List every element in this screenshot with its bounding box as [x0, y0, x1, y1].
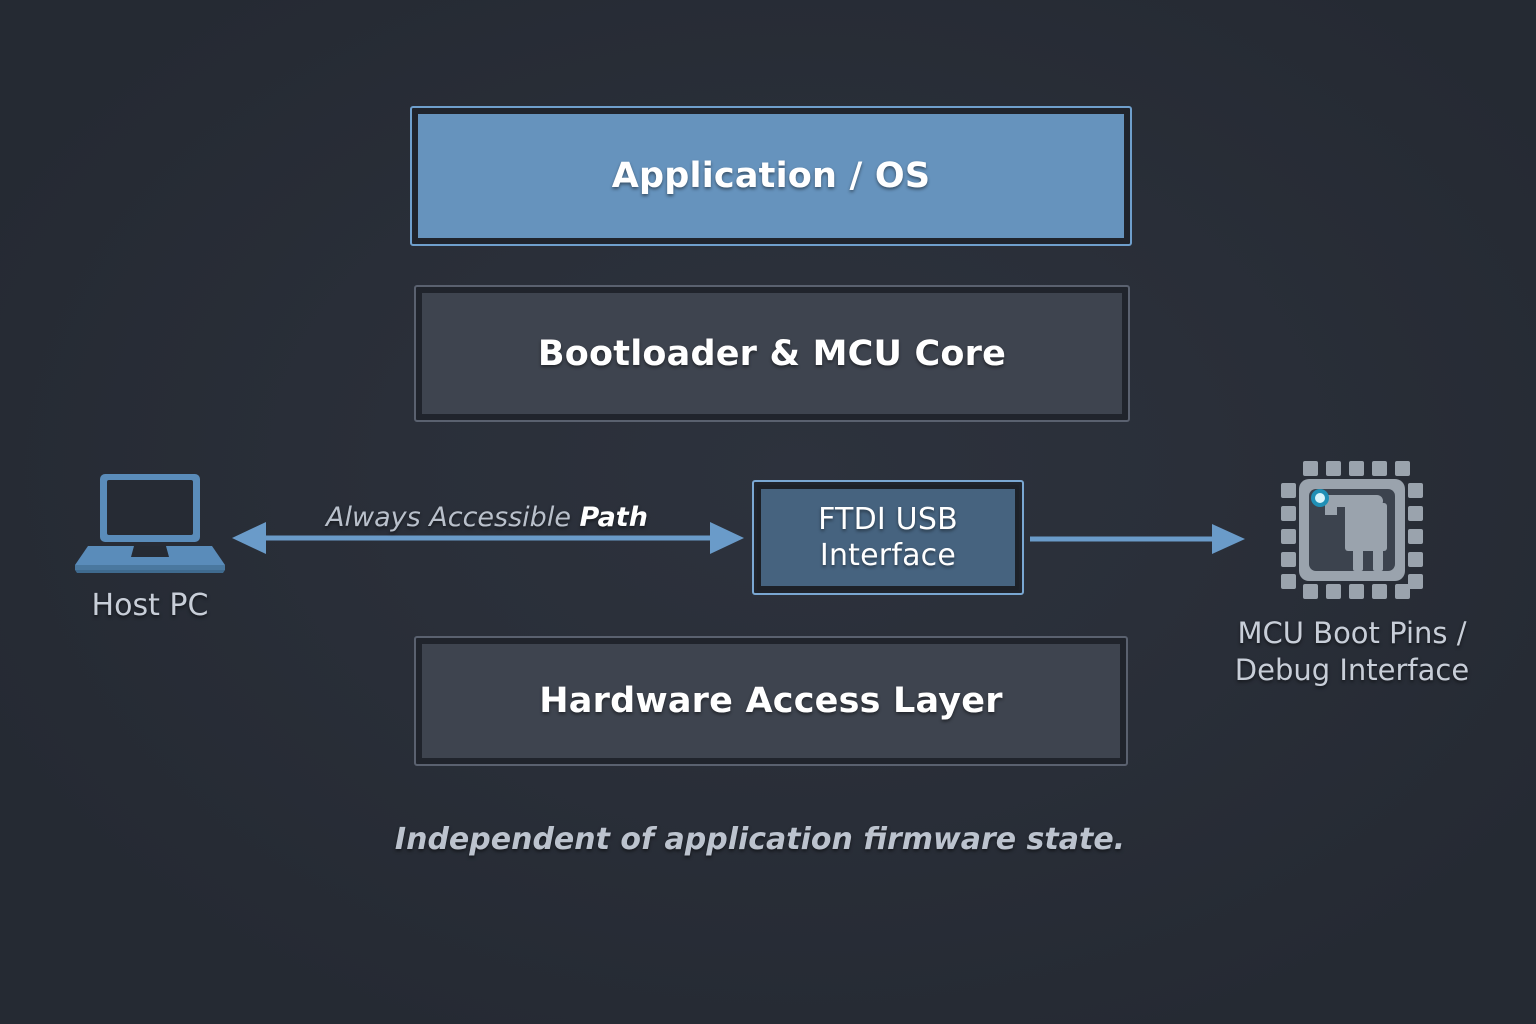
layer-label-bootloader-mcu-core: Bootloader & MCU Core	[538, 334, 1006, 374]
mcu-label: MCU Boot Pins /Debug Interface	[1235, 615, 1469, 689]
caption-strong-text: Path	[580, 502, 648, 533]
footer-note: Independent of application firmware stat…	[0, 822, 1536, 857]
connector-caption-always-accessible-path: Always Accessible Path	[232, 502, 742, 533]
layer-box-application-os[interactable]: Application / OS	[410, 106, 1132, 246]
microchip-icon	[1277, 455, 1427, 605]
layer-box-application-os-inner: Application / OS	[415, 111, 1127, 241]
layer-label-hardware-access-layer: Hardware Access Layer	[539, 681, 1002, 721]
host-pc-label: Host PC	[92, 587, 209, 625]
laptop-icon	[70, 470, 230, 575]
layer-box-bootloader-mcu-core[interactable]: Bootloader & MCU Core	[414, 285, 1130, 422]
layer-box-hardware-access-layer-inner: Hardware Access Layer	[419, 641, 1123, 761]
node-ftdi-usb-interface-inner: FTDI USBInterface	[757, 485, 1019, 590]
node-ftdi-usb-interface[interactable]: FTDI USBInterface	[752, 480, 1024, 595]
diagram-canvas: Application / OS Bootloader & MCU Core H…	[0, 0, 1536, 1024]
layer-box-bootloader-mcu-core-inner: Bootloader & MCU Core	[419, 290, 1125, 417]
node-mcu-boot-pins[interactable]: MCU Boot Pins /Debug Interface	[1222, 455, 1482, 689]
mcu-label-line1: MCU Boot Pins /	[1237, 616, 1466, 650]
caption-normal-text: Always Accessible	[326, 502, 579, 533]
mcu-label-line2: Debug Interface	[1235, 653, 1469, 687]
ftdi-label-line2: Interface	[820, 538, 956, 573]
ftdi-label: FTDI USBInterface	[818, 502, 958, 573]
layer-label-application-os: Application / OS	[612, 156, 931, 196]
ftdi-label-line1: FTDI USB	[818, 502, 958, 537]
layer-box-hardware-access-layer[interactable]: Hardware Access Layer	[414, 636, 1128, 766]
connector-ftdi-to-mcu[interactable]	[1030, 522, 1245, 556]
footer-note-text: Independent of application firmware stat…	[395, 822, 1125, 857]
node-host-pc[interactable]: Host PC	[44, 470, 256, 625]
